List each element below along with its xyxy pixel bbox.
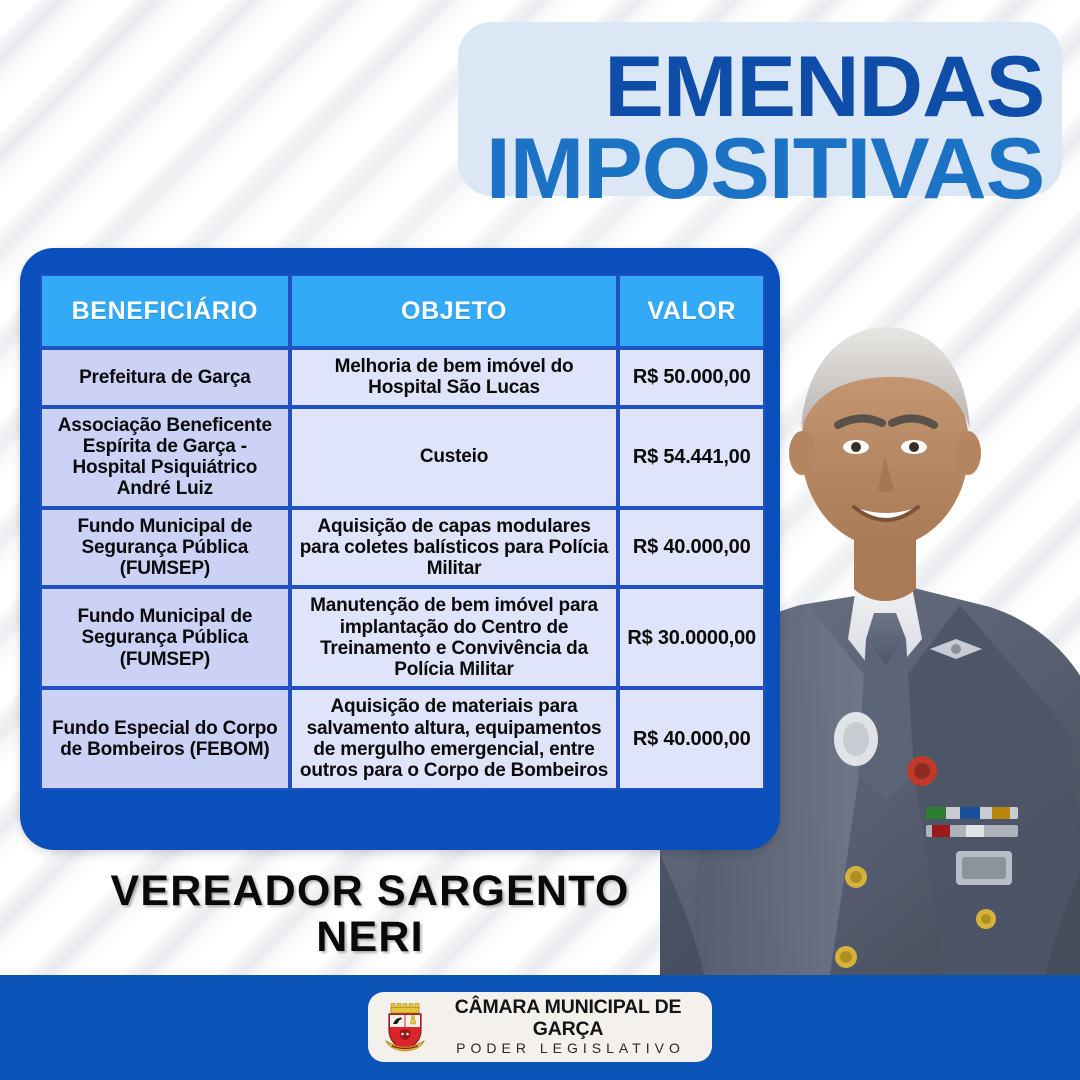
cell-beneficiario: Fundo Municipal de Segurança Pública (FU… xyxy=(40,587,290,688)
cell-valor: R$ 40.000,00 xyxy=(618,508,765,588)
table-row: Fundo Municipal de Segurança Pública (FU… xyxy=(40,508,765,588)
cell-valor: R$ 30.0000,00 xyxy=(618,587,765,688)
coat-of-arms-icon xyxy=(382,1000,428,1054)
table-row: Associação Beneficente Espírita de Garça… xyxy=(40,407,765,508)
cell-objeto: Melhoria de bem imóvel do Hospital São L… xyxy=(290,348,619,407)
cell-beneficiario: Fundo Municipal de Segurança Pública (FU… xyxy=(40,508,290,588)
column-header-objeto: OBJETO xyxy=(290,274,619,348)
politician-name-line-2: NERI xyxy=(60,914,680,960)
cell-beneficiario: Associação Beneficente Espírita de Garça… xyxy=(40,407,290,508)
footer-institution-name: CÂMARA MUNICIPAL DE GARÇA xyxy=(438,997,698,1040)
poster-canvas: EMENDAS IMPOSITIVAS BENEFICIÁRIO OBJETO … xyxy=(0,0,1080,1080)
politician-name-line-1: VEREADOR SARGENTO xyxy=(60,868,680,914)
poster-title-line-1: EMENDAS xyxy=(0,44,1063,130)
column-header-beneficiario: BENEFICIÁRIO xyxy=(40,274,290,348)
cell-objeto: Aquisição de materiais para salvamento a… xyxy=(290,688,619,789)
cell-objeto: Custeio xyxy=(290,407,619,508)
cell-beneficiario: Prefeitura de Garça xyxy=(40,348,290,407)
emendas-table: BENEFICIÁRIO OBJETO VALOR Prefeitura de … xyxy=(40,274,765,790)
poster-title-line-2: IMPOSITIVAS xyxy=(0,126,1063,212)
cell-objeto: Manutenção de bem imóvel para implantaçã… xyxy=(290,587,619,688)
table-header-row: BENEFICIÁRIO OBJETO VALOR xyxy=(40,274,765,348)
cell-valor: R$ 40.000,00 xyxy=(618,688,765,789)
table-row: Fundo Especial do Corpo de Bombeiros (FE… xyxy=(40,688,765,789)
footer-institution-subtitle: PODER LEGISLATIVO xyxy=(438,1040,698,1057)
cell-beneficiario: Fundo Especial do Corpo de Bombeiros (FE… xyxy=(40,688,290,789)
table-row: Prefeitura de Garça Melhoria de bem imóv… xyxy=(40,348,765,407)
cell-valor: R$ 50.000,00 xyxy=(618,348,765,407)
footer-logo-badge: CÂMARA MUNICIPAL DE GARÇA PODER LEGISLAT… xyxy=(368,992,712,1062)
politician-name: VEREADOR SARGENTO NERI xyxy=(60,868,680,961)
table-row: Fundo Municipal de Segurança Pública (FU… xyxy=(40,587,765,688)
cell-valor: R$ 54.441,00 xyxy=(618,407,765,508)
cell-objeto: Aquisição de capas modulares para colete… xyxy=(290,508,619,588)
footer-text-block: CÂMARA MUNICIPAL DE GARÇA PODER LEGISLAT… xyxy=(438,997,698,1057)
column-header-valor: VALOR xyxy=(618,274,765,348)
